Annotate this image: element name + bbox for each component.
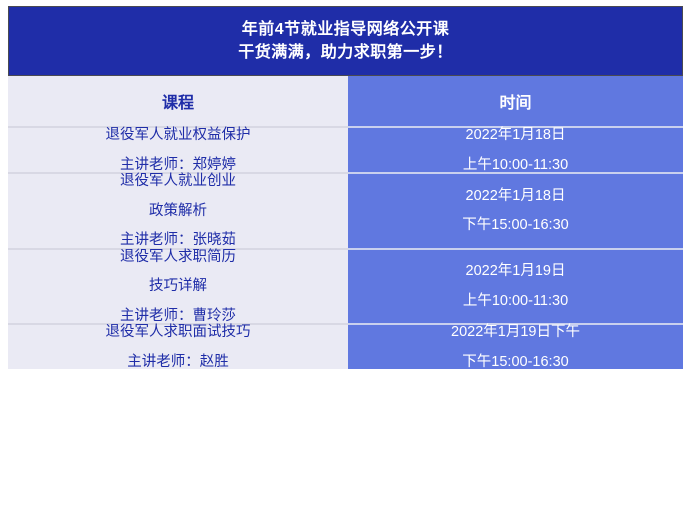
time-cell: 2022年1月19日上午10:00-11:30 [348,249,683,325]
time-text-line: 下午15:00-16:30 [348,218,683,233]
time-cell: 2022年1月18日下午15:00-16:30 [348,173,683,249]
schedule-table: 课程 时间 退役军人就业权益保护主讲老师：郑婷婷2022年1月18日上午10:0… [8,76,683,369]
time-text-line: 2022年1月18日 [348,189,683,204]
table-row: 退役军人求职面试技巧主讲老师：赵胜2022年1月19日下午下午15:00-16:… [8,324,683,369]
course-text-line: 主讲老师：张晓茹 [8,233,348,248]
course-cell: 退役军人求职面试技巧主讲老师：赵胜 [8,324,348,369]
course-text-line: 退役军人就业创业 [8,174,348,189]
time-text-line: 2022年1月19日下午 [348,325,683,340]
table-row: 退役军人就业权益保护主讲老师：郑婷婷2022年1月18日上午10:00-11:3… [8,127,683,173]
course-text-line: 退役军人求职简历 [8,250,348,265]
course-cell: 退役军人就业创业政策解析主讲老师：张晓茹 [8,173,348,249]
course-text-line: 退役军人就业权益保护 [8,128,348,143]
course-cell: 退役军人就业权益保护主讲老师：郑婷婷 [8,127,348,173]
poster-subtitle-line-2: 干货满满，助力求职第一步！ [238,45,453,61]
course-text-line: 技巧详解 [8,279,348,294]
time-text-line: 上午10:00-11:30 [348,158,683,173]
time-cell: 2022年1月18日上午10:00-11:30 [348,127,683,173]
course-text-line: 退役军人求职面试技巧 [8,325,348,340]
time-text-line: 下午15:00-16:30 [348,355,683,370]
poster-title-line-1: 年前4节就业指导网络公开课 [242,22,449,38]
time-text-line: 上午10:00-11:30 [348,294,683,309]
table-row: 退役军人就业创业政策解析主讲老师：张晓茹2022年1月18日下午15:00-16… [8,173,683,249]
poster-banner: 年前4节就业指导网络公开课 干货满满，助力求职第一步！ [8,6,683,76]
course-schedule-poster: 年前4节就业指导网络公开课 干货满满，助力求职第一步！ 课程 时间 退役军人就业… [8,6,683,518]
time-text-line: 2022年1月19日 [348,264,683,279]
schedule-table-body: 退役军人就业权益保护主讲老师：郑婷婷2022年1月18日上午10:00-11:3… [8,127,683,369]
course-text-line: 政策解析 [8,204,348,219]
time-text-line: 2022年1月18日 [348,128,683,143]
column-header-time: 时间 [348,76,683,127]
course-text-line: 主讲老师：曹玲莎 [8,309,348,324]
course-text-line: 主讲老师：赵胜 [8,355,348,370]
time-cell: 2022年1月19日下午下午15:00-16:30 [348,324,683,369]
course-cell: 退役军人求职简历技巧详解主讲老师：曹玲莎 [8,249,348,325]
column-header-course: 课程 [8,76,348,127]
course-text-line: 主讲老师：郑婷婷 [8,158,348,173]
table-header-row: 课程 时间 [8,76,683,127]
table-row: 退役军人求职简历技巧详解主讲老师：曹玲莎2022年1月19日上午10:00-11… [8,249,683,325]
